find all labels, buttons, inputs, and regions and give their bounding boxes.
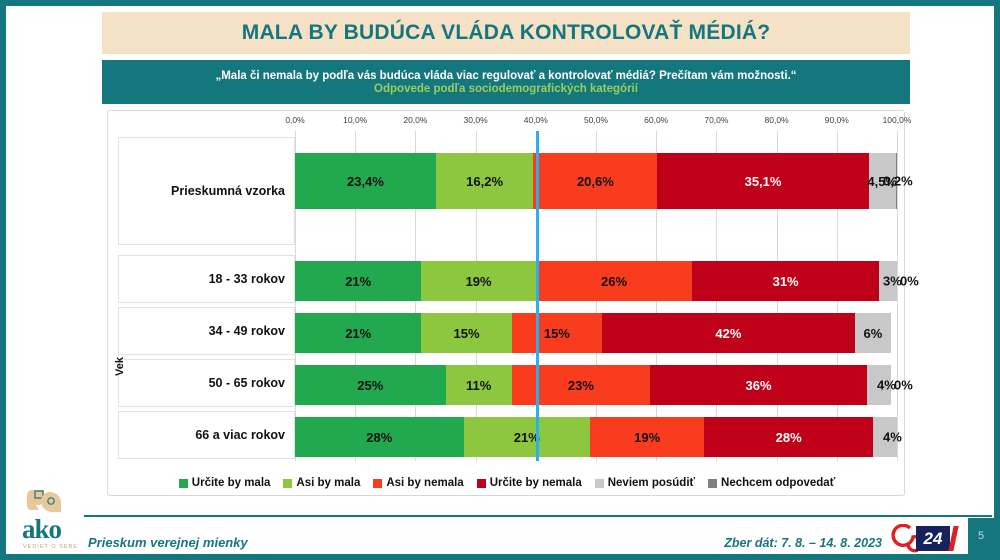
legend-label: Neviem posúdiť [608,477,695,489]
legend-swatch-icon [373,479,382,488]
question-banner: „Mala či nemala by podľa vás budúca vlád… [102,60,910,104]
bar-value-label: 42% [715,326,741,341]
category-label-1: Prieskumná vzorka [118,137,295,245]
legend-label: Určite by nemala [490,477,582,489]
bar-value-label: 25% [357,378,383,393]
bar-segment-4: 28% [704,417,873,457]
chart-plot-area: Prieskumná vzorka23,4%16,2%20,6%35,1%4,5… [108,131,906,461]
bar-segment-2: 19% [421,261,535,301]
category-label-text: 18 - 33 rokov [209,272,285,286]
bar-value-label: 6% [864,326,883,341]
bar-value-label: 23% [568,378,594,393]
legend-label: Asi by nemala [386,477,463,489]
bar-value-label: 15% [454,326,480,341]
legend-item-1[interactable]: Určite by mala [179,477,271,489]
slide-title-banner: MALA BY BUDÚCA VLÁDA KONTROLOVAŤ MÉDIÁ? [102,12,910,54]
bar-value-label: 15% [544,326,570,341]
x-tick-80: 80,0% [765,115,789,125]
legend-swatch-icon [283,479,292,488]
x-tick-60: 60,0% [644,115,668,125]
bar-segment-1: 23,4% [295,153,436,209]
bar-segment-4: 35,1% [657,153,868,209]
legend-item-2[interactable]: Asi by mala [283,477,360,489]
legend-swatch-icon [179,479,188,488]
x-tick-20: 20,0% [403,115,427,125]
bar-value-label-outside: 4% [883,430,902,445]
bar-value-label: 36% [746,378,772,393]
ako-logo: ako VEDIEŤ O SEBE [20,488,94,560]
slide-root: MALA BY BUDÚCA VLÁDA KONTROLOVAŤ MÉDIÁ? … [0,0,1000,560]
chart-container: 0,0%10,0%20,0%30,0%40,0%50,0%60,0%70,0%8… [107,110,905,496]
bar-segment-1: 21% [295,261,421,301]
y-axis-group-label: Vek [114,357,126,376]
bar-segment-2: 11% [446,365,512,405]
legend-item-3[interactable]: Asi by nemala [373,477,463,489]
legend-item-4[interactable]: Určite by nemala [477,477,582,489]
bar-segment-4: 31% [692,261,879,301]
bar-value-label: 21% [345,326,371,341]
category-label-text: 66 a viac rokov [195,428,285,442]
bar-segment-3: 20,6% [533,153,657,209]
bar-value-label: 16,2% [466,174,503,189]
bar-value-label: 28% [366,430,392,445]
bar-segment-4: 42% [602,313,855,353]
category-label-4: 50 - 65 rokov [118,359,295,407]
bar-value-label-outside: 3% [883,274,902,289]
bar-segment-2: 16,2% [436,153,534,209]
bar-value-label: 19% [634,430,660,445]
x-tick-100: 100,0% [883,115,912,125]
bar-segment-1: 28% [295,417,464,457]
tv24-number: 24 [916,526,950,551]
tv24-logo: 24 [890,524,962,554]
bar-segment-2: 15% [421,313,511,353]
bar-segment-1: 21% [295,313,421,353]
bar-value-label-outside: 4% [877,378,896,393]
question-text: „Mala či nemala by podľa vás budúca vlád… [215,70,796,82]
legend-item-6[interactable]: Nechcem odpovedať [708,477,835,489]
legend-swatch-icon [477,479,486,488]
bar-value-label: 28% [776,430,802,445]
bar-segment-1: 25% [295,365,446,405]
legend-label: Určite by mala [192,477,271,489]
x-tick-0: 0,0% [285,115,304,125]
bar-value-label-outside: 0% [894,378,913,393]
question-subtitle: Odpovede podľa sociodemografických kateg… [374,83,638,95]
bar-segment-3: 15% [512,313,602,353]
x-tick-10: 10,0% [343,115,367,125]
footer-date: Zber dát: 7. 8. – 14. 8. 2023 [724,536,882,550]
x-tick-50: 50,0% [584,115,608,125]
bar-value-label-outside: 0,2% [883,174,913,189]
chart-legend: Určite by malaAsi by malaAsi by nemalaUr… [108,477,906,489]
category-label-text: 34 - 49 rokov [209,324,285,338]
bar-value-label: 31% [773,274,799,289]
bar-segment-3: 26% [536,261,693,301]
x-tick-40: 40,0% [524,115,548,125]
bar-value-label: 19% [466,274,492,289]
x-tick-90: 90,0% [825,115,849,125]
page-number-badge: 5 [968,518,994,554]
bar-segment-4: 36% [650,365,867,405]
legend-swatch-icon [595,479,604,488]
x-tick-30: 30,0% [464,115,488,125]
bar-value-label: 20,6% [577,174,614,189]
bar-segment-5: 6% [855,313,891,353]
legend-item-5[interactable]: Neviem posúdiť [595,477,695,489]
legend-label: Nechcem odpovedať [721,477,835,489]
bar-segment-3: 23% [512,365,650,405]
category-label-3: 34 - 49 rokov [118,307,295,355]
ako-tagline: VEDIEŤ O SEBE [23,544,78,550]
category-label-text: Prieskumná vzorka [171,184,285,198]
bar-value-label: 21% [345,274,371,289]
bar-value-label-outside: 0% [900,274,919,289]
legend-swatch-icon [708,479,717,488]
tv24-spiral-icon [890,524,918,554]
category-label-2: 18 - 33 rokov [118,255,295,303]
category-label-text: 50 - 65 rokov [209,376,285,390]
ako-wordmark: ako [22,514,61,545]
bar-segment-3: 19% [590,417,704,457]
bar-value-label: 11% [466,378,491,393]
reference-line-40pct [536,131,539,461]
page-title: MALA BY BUDÚCA VLÁDA KONTROLOVAŤ MÉDIÁ? [242,21,771,45]
x-tick-70: 70,0% [704,115,728,125]
footer-caption: Prieskum verejnej mienky [88,535,248,550]
bar-value-label: 23,4% [347,174,384,189]
footer-divider [84,515,992,517]
category-label-5: 66 a viac rokov [118,411,295,459]
legend-label: Asi by mala [296,477,360,489]
bar-segment-2: 21% [464,417,590,457]
x-axis-tick-labels: 0,0%10,0%20,0%30,0%40,0%50,0%60,0%70,0%8… [108,115,906,131]
bar-value-label: 35,1% [745,174,782,189]
bar-value-label: 26% [601,274,627,289]
